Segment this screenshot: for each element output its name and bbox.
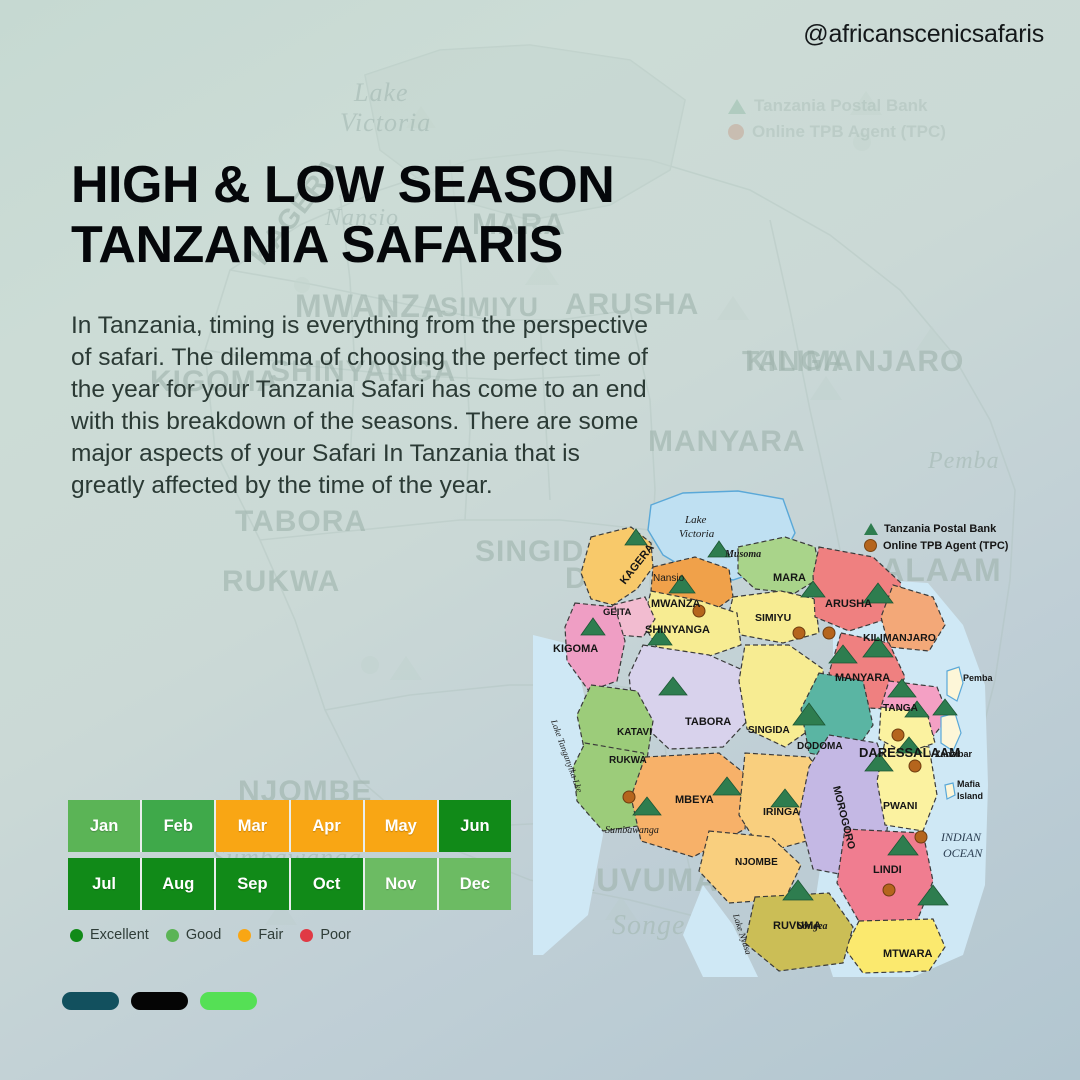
background-legend-row-postal-bank: Tanzania Postal Bank	[728, 96, 946, 116]
month-cell-aug[interactable]: Aug	[142, 858, 216, 910]
legend-swatch-excellent	[70, 929, 83, 942]
circle-icon	[728, 124, 744, 140]
map-label-mbeya: MBEYA	[675, 794, 714, 806]
map-label-mafia-2: Island	[957, 791, 983, 801]
legend-swatch-poor	[300, 929, 313, 942]
map-label-pwani: PWANI	[883, 800, 918, 812]
background-map-label: MANYARA	[648, 425, 806, 459]
month-cell-jun[interactable]: Jun	[439, 800, 511, 852]
teal-pill	[62, 992, 119, 1010]
background-map-label: RUKWA	[222, 565, 340, 599]
map-label-sumbawanga: Sumbawanga	[605, 825, 659, 836]
map-label-dodoma: DODOMA	[797, 741, 843, 752]
background-map-label: KILIMANJARO	[745, 345, 964, 379]
legend-label-poor: Poor	[320, 927, 351, 943]
body-paragraph: In Tanzania, timing is everything from t…	[71, 310, 651, 503]
month-cell-apr[interactable]: Apr	[291, 800, 365, 852]
month-cell-dec[interactable]: Dec	[439, 858, 511, 910]
background-map-legend: Tanzania Postal Bank Online TPB Agent (T…	[728, 96, 946, 148]
map-label-lake-victoria-2: Victoria	[679, 528, 715, 540]
map-label-simiyu: SIMIYU	[755, 612, 791, 624]
month-cell-jul[interactable]: Jul	[68, 858, 142, 910]
map-legend-label-tpb-agent: Online TPB Agent (TPC)	[883, 540, 1008, 552]
month-cell-nov[interactable]: Nov	[365, 858, 439, 910]
month-cell-oct[interactable]: Oct	[291, 858, 365, 910]
background-legend-label-tpb-agent: Online TPB Agent (TPC)	[752, 122, 946, 142]
map-label-songea: Songea	[797, 921, 828, 932]
legend-item-good: Good	[166, 927, 221, 943]
legend-item-poor: Poor	[300, 927, 351, 943]
month-cell-may[interactable]: May	[365, 800, 439, 852]
map-label-kilimanjaro: KILIMANJARO	[863, 632, 936, 644]
map-label-njombe: NJOMBE	[735, 857, 778, 868]
background-legend-row-tpb-agent: Online TPB Agent (TPC)	[728, 122, 946, 142]
map-label-indian-ocean-2: OCEAN	[943, 846, 983, 860]
background-map-label: TABORA	[235, 505, 367, 539]
map-label-mwanza: MWANZA	[651, 598, 701, 610]
map-label-shinyanga: SHINYANGA	[645, 624, 710, 636]
green-pill	[200, 992, 257, 1010]
legend-swatch-fair	[238, 929, 251, 942]
page-title: HIGH & LOW SEASON TANZANIA SAFARIS	[71, 155, 614, 276]
map-label-nansio: Nansio	[653, 573, 685, 584]
triangle-icon	[864, 523, 878, 535]
map-label-mtwara: MTWARA	[883, 948, 933, 960]
tanzania-regions-map: KAGERA MARA MWANZA SIMIYU SHINYANGA GEIT…	[533, 485, 995, 977]
legend-item-excellent: Excellent	[70, 927, 149, 943]
legend-swatch-good	[166, 929, 179, 942]
season-month-grid: Jan Feb Mar Apr May Jun Jul Aug Sep Oct …	[68, 800, 511, 910]
black-pill	[131, 992, 188, 1010]
circle-icon	[823, 627, 835, 639]
region-ruvuma	[745, 893, 853, 971]
circle-icon	[915, 831, 927, 843]
page-title-line-2: TANZANIA SAFARIS	[71, 216, 563, 274]
map-label-singida: SINGIDA	[748, 725, 790, 736]
map-label-arusha: ARUSHA	[825, 598, 872, 610]
month-cell-sep[interactable]: Sep	[216, 858, 290, 910]
region-mtwara	[845, 919, 945, 973]
map-label-mara: MARA	[773, 572, 806, 584]
map-label-tanga: TANGA	[883, 703, 918, 714]
month-cell-feb[interactable]: Feb	[142, 800, 216, 852]
map-label-tabora: TABORA	[685, 716, 731, 728]
background-map-label: Lake	[354, 78, 409, 108]
map-label-katavi: KATAVI	[617, 727, 652, 738]
legend-label-good: Good	[186, 927, 221, 943]
legend-item-fair: Fair	[238, 927, 283, 943]
map-label-pemba: Pemba	[963, 673, 994, 683]
circle-icon	[909, 760, 921, 772]
map-label-geita: GEITA	[603, 607, 631, 618]
circle-icon	[892, 729, 904, 741]
circle-icon	[864, 539, 877, 552]
map-label-indian-ocean-1: INDIAN	[940, 830, 982, 844]
brand-pill-bar	[62, 992, 257, 1010]
circle-icon	[883, 884, 895, 896]
rating-legend: Excellent Good Fair Poor	[70, 927, 351, 943]
map-legend-label-postal-bank: Tanzania Postal Bank	[884, 523, 996, 535]
map-label-lake-victoria-1: Lake	[684, 514, 707, 526]
month-row-first-half: Jan Feb Mar Apr May Jun	[68, 800, 511, 852]
map-label-manyara: MANYARA	[835, 672, 890, 684]
legend-label-excellent: Excellent	[90, 927, 149, 943]
page-title-line-1: HIGH & LOW SEASON	[71, 156, 614, 214]
background-map-label: Pemba	[928, 448, 1000, 475]
map-label-rukwa: RUKWA	[609, 755, 647, 766]
circle-icon	[623, 791, 635, 803]
map-legend-row-tpb-agent: Online TPB Agent (TPC)	[864, 539, 1008, 552]
map-legend: Tanzania Postal Bank Online TPB Agent (T…	[864, 523, 1008, 556]
map-label-zanzibar: Zanzibar	[935, 749, 973, 759]
map-legend-row-postal-bank: Tanzania Postal Bank	[864, 523, 1008, 535]
social-handle: @africanscenicsafaris	[803, 20, 1044, 49]
region-mara	[738, 537, 821, 593]
legend-label-fair: Fair	[258, 927, 283, 943]
map-label-iringa: IRINGA	[763, 806, 800, 818]
background-legend-label-postal-bank: Tanzania Postal Bank	[754, 96, 928, 116]
map-label-lindi: LINDI	[873, 864, 902, 876]
map-label-musoma: Musoma	[724, 549, 761, 560]
month-cell-mar[interactable]: Mar	[216, 800, 290, 852]
map-label-kigoma: KIGOMA	[553, 643, 598, 655]
background-map-label: Victoria	[340, 108, 431, 138]
month-cell-jan[interactable]: Jan	[68, 800, 142, 852]
map-label-mafia-1: Mafia	[957, 779, 981, 789]
background-map-label: TANGA	[742, 345, 844, 377]
month-row-second-half: Jul Aug Sep Oct Nov Dec	[68, 858, 511, 910]
circle-icon	[793, 627, 805, 639]
triangle-icon	[728, 99, 746, 114]
